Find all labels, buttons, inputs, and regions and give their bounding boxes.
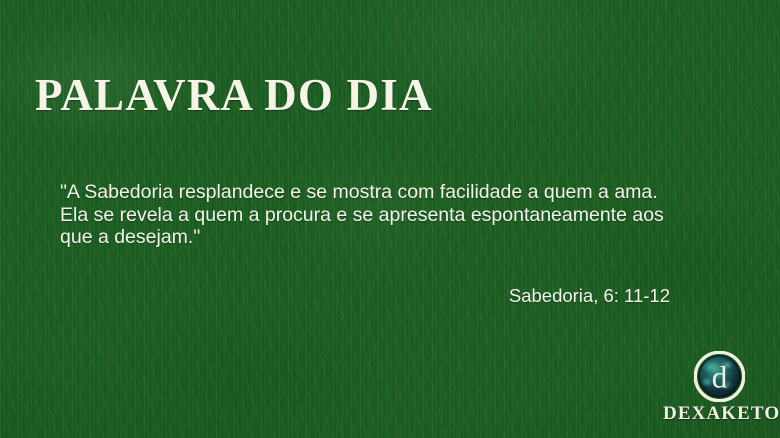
dexaketo-logo-mark: d xyxy=(694,351,745,402)
quote-citation: Sabedoria, 6: 11-12 xyxy=(0,285,725,307)
palavra-do-dia-slide: PALAVRA DO DIA "A Sabedoria resplandece … xyxy=(0,0,780,438)
page-title: PALAVRA DO DIA xyxy=(35,70,433,120)
dexaketo-wordmark: DEXAKETO xyxy=(663,403,775,424)
quote-text: "A Sabedoria resplandece e se mostra com… xyxy=(60,181,725,249)
svg-text:d: d xyxy=(711,360,727,395)
dexaketo-logo: d DEXAKETO xyxy=(663,351,775,429)
